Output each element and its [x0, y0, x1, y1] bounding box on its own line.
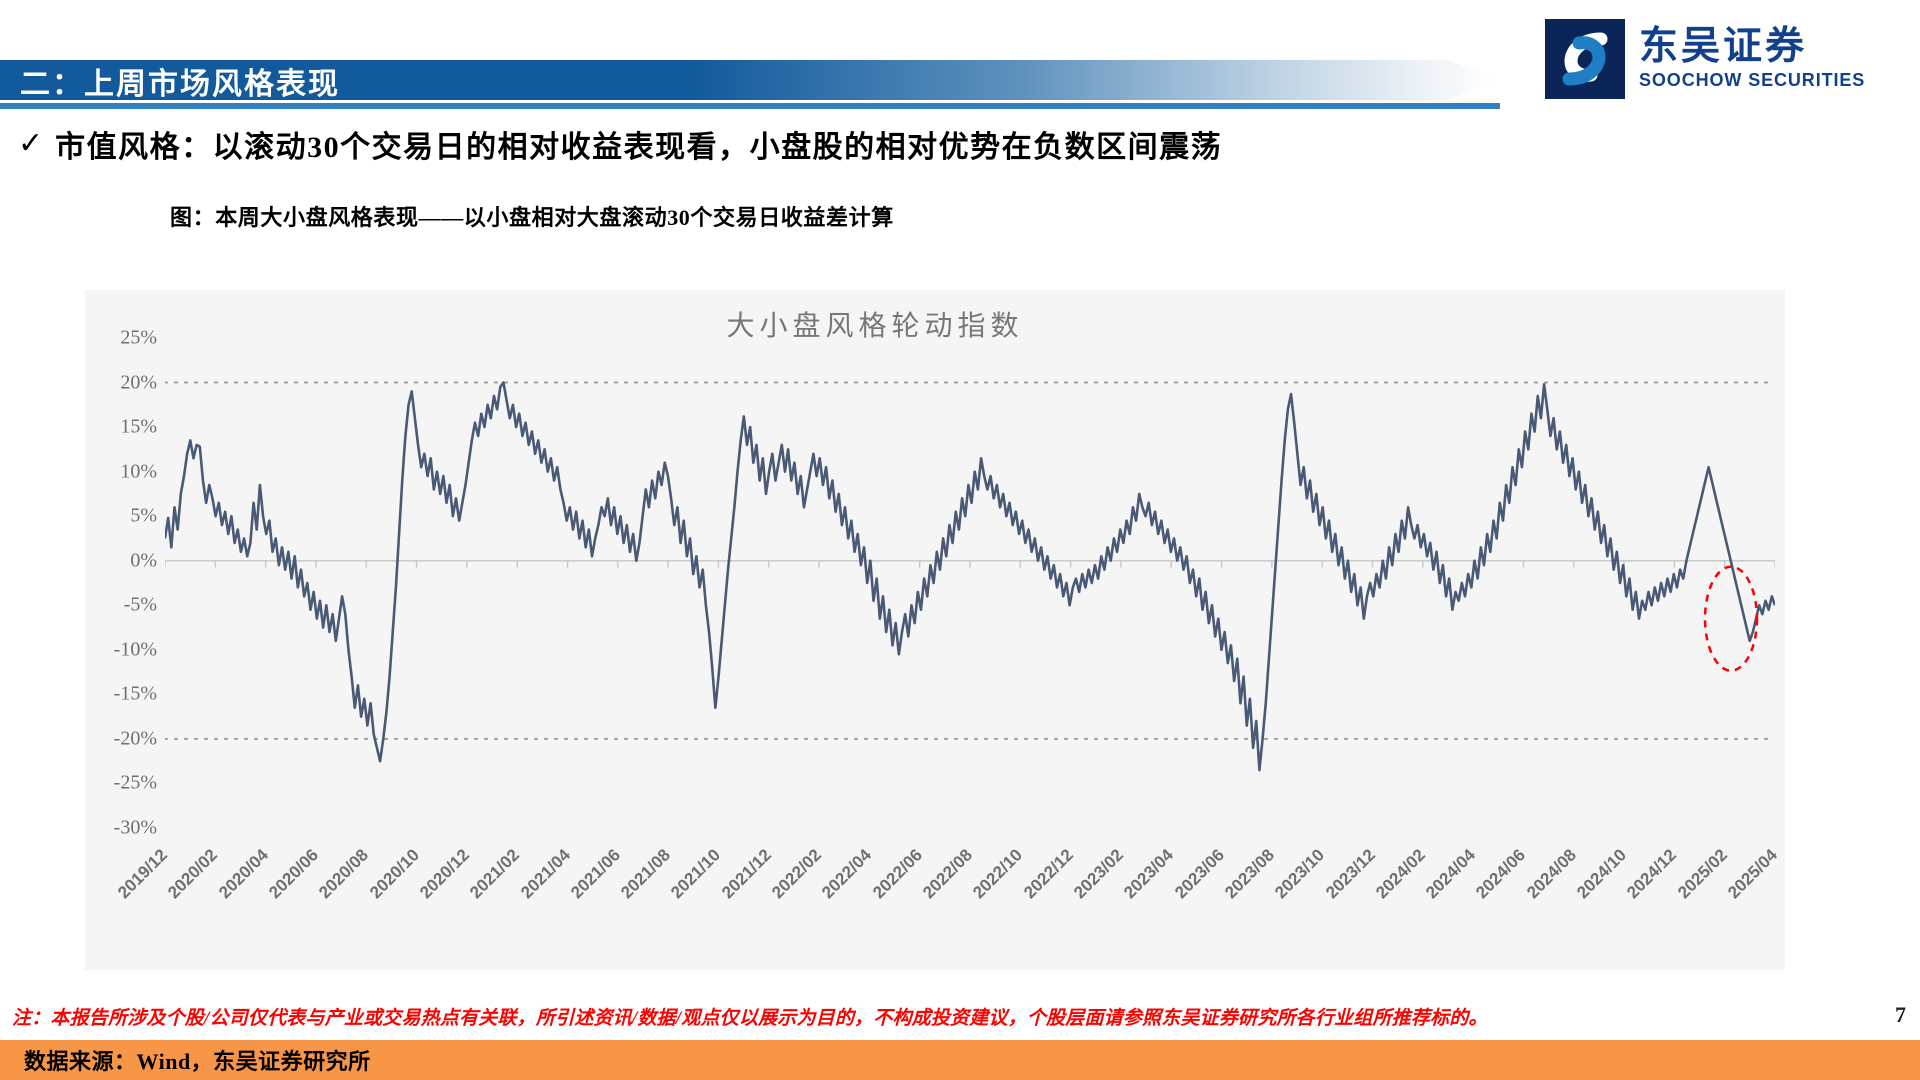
x-axis-tick-label: 2019/12	[114, 845, 172, 903]
x-axis-tick-label: 2024/10	[1573, 845, 1631, 903]
logo-chinese-name: 东吴证券	[1639, 27, 1865, 68]
x-axis-tick-label: 2020/08	[315, 845, 373, 903]
x-axis-tick-label: 2020/06	[265, 845, 323, 903]
x-axis-tick-label: 2020/10	[366, 845, 424, 903]
x-axis-tick-label: 2022/04	[818, 845, 876, 903]
x-axis-tick-label: 2024/08	[1523, 845, 1581, 903]
x-axis-tick-label: 2024/04	[1422, 845, 1480, 903]
x-axis-tick-label: 2025/02	[1674, 845, 1732, 903]
x-axis-tick-label: 2022/02	[768, 845, 826, 903]
x-axis-tick-label: 2021/12	[718, 845, 776, 903]
x-axis-tick-label: 2021/04	[517, 845, 575, 903]
chart-panel: 大小盘风格轮动指数 25%20%15%10%5%0%-5%-10%-15%-20…	[85, 290, 1785, 970]
y-axis-tick-label: 0%	[130, 549, 157, 572]
x-axis-tick-label: 2021/10	[668, 845, 726, 903]
x-axis-tick-label: 2023/08	[1221, 845, 1279, 903]
section-underline	[0, 103, 1500, 109]
x-axis-tick-label: 2023/04	[1120, 845, 1178, 903]
y-axis-tick-label: 20%	[120, 371, 157, 394]
figure-caption: 图：本周大小盘风格表现——以小盘相对大盘滚动30个交易日收益差计算	[170, 200, 894, 232]
x-axis-tick-label: 2022/12	[1020, 845, 1078, 903]
x-axis-tick-label: 2024/12	[1623, 845, 1681, 903]
check-icon: ✓	[18, 129, 43, 159]
x-axis-tick-label: 2023/10	[1271, 845, 1329, 903]
x-axis-tick-label: 2021/02	[466, 845, 524, 903]
logo-english-name: SOOCHOW SECURITIES	[1639, 70, 1865, 91]
y-axis-tick-label: -25%	[114, 772, 157, 795]
x-axis-tick-label: 2022/06	[869, 845, 927, 903]
x-axis-tick-label: 2024/02	[1372, 845, 1430, 903]
x-axis-tick-label: 2022/08	[919, 845, 977, 903]
chart-svg	[165, 338, 1775, 852]
x-axis-tick-label: 2024/06	[1473, 845, 1531, 903]
x-axis-tick-label: 2021/06	[567, 845, 625, 903]
y-axis-tick-label: 25%	[120, 327, 157, 350]
x-axis-tick-label: 2020/04	[215, 845, 273, 903]
y-axis-tick-label: 10%	[120, 460, 157, 483]
y-axis-tick-label: 5%	[130, 505, 157, 528]
x-axis-tick-label: 2023/02	[1070, 845, 1128, 903]
bullet-row: ✓ 市值风格：以滚动30个交易日的相对收益表现看，小盘股的相对优势在负数区间震荡	[18, 122, 1618, 166]
y-axis-tick-label: -30%	[114, 817, 157, 840]
x-axis-tick-label: 2022/10	[969, 845, 1027, 903]
company-logo: 东吴证券 SOOCHOW SECURITIES	[1545, 18, 1890, 100]
x-axis-tick-label: 2023/06	[1171, 845, 1229, 903]
y-axis-tick-label: -15%	[114, 683, 157, 706]
highlight-ellipse-annotation	[1705, 567, 1757, 671]
x-axis-tick-label: 2021/08	[617, 845, 675, 903]
section-title: 二：上周市场风格表现	[20, 62, 340, 100]
x-axis-labels: 2019/122020/022020/042020/062020/082020/…	[165, 835, 1775, 955]
logo-mark-icon	[1545, 19, 1625, 99]
x-axis-tick-label: 2023/12	[1322, 845, 1380, 903]
x-axis-tick-label: 2020/12	[416, 845, 474, 903]
y-axis-tick-label: -20%	[114, 727, 157, 750]
page-number: 7	[1895, 1002, 1906, 1028]
x-axis-tick-label: 2020/02	[164, 845, 222, 903]
source-text: 数据来源：Wind，东吴证券研究所	[24, 1044, 371, 1076]
y-axis-tick-label: 15%	[120, 416, 157, 439]
chart-series-line	[165, 383, 1775, 771]
y-axis-tick-label: -5%	[124, 594, 157, 617]
y-axis-labels: 25%20%15%10%5%0%-5%-10%-15%-20%-25%-30%	[85, 338, 157, 828]
disclaimer-text: 注：本报告所涉及个股/公司仅代表与产业或交易热点有关联，所引述资讯/数据/观点仅…	[12, 1003, 1872, 1030]
y-axis-tick-label: -10%	[114, 638, 157, 661]
bullet-text: 市值风格：以滚动30个交易日的相对收益表现看，小盘股的相对优势在负数区间震荡	[55, 122, 1222, 166]
chart-plot-area	[165, 338, 1775, 828]
x-axis-tick-label: 2025/04	[1724, 845, 1782, 903]
